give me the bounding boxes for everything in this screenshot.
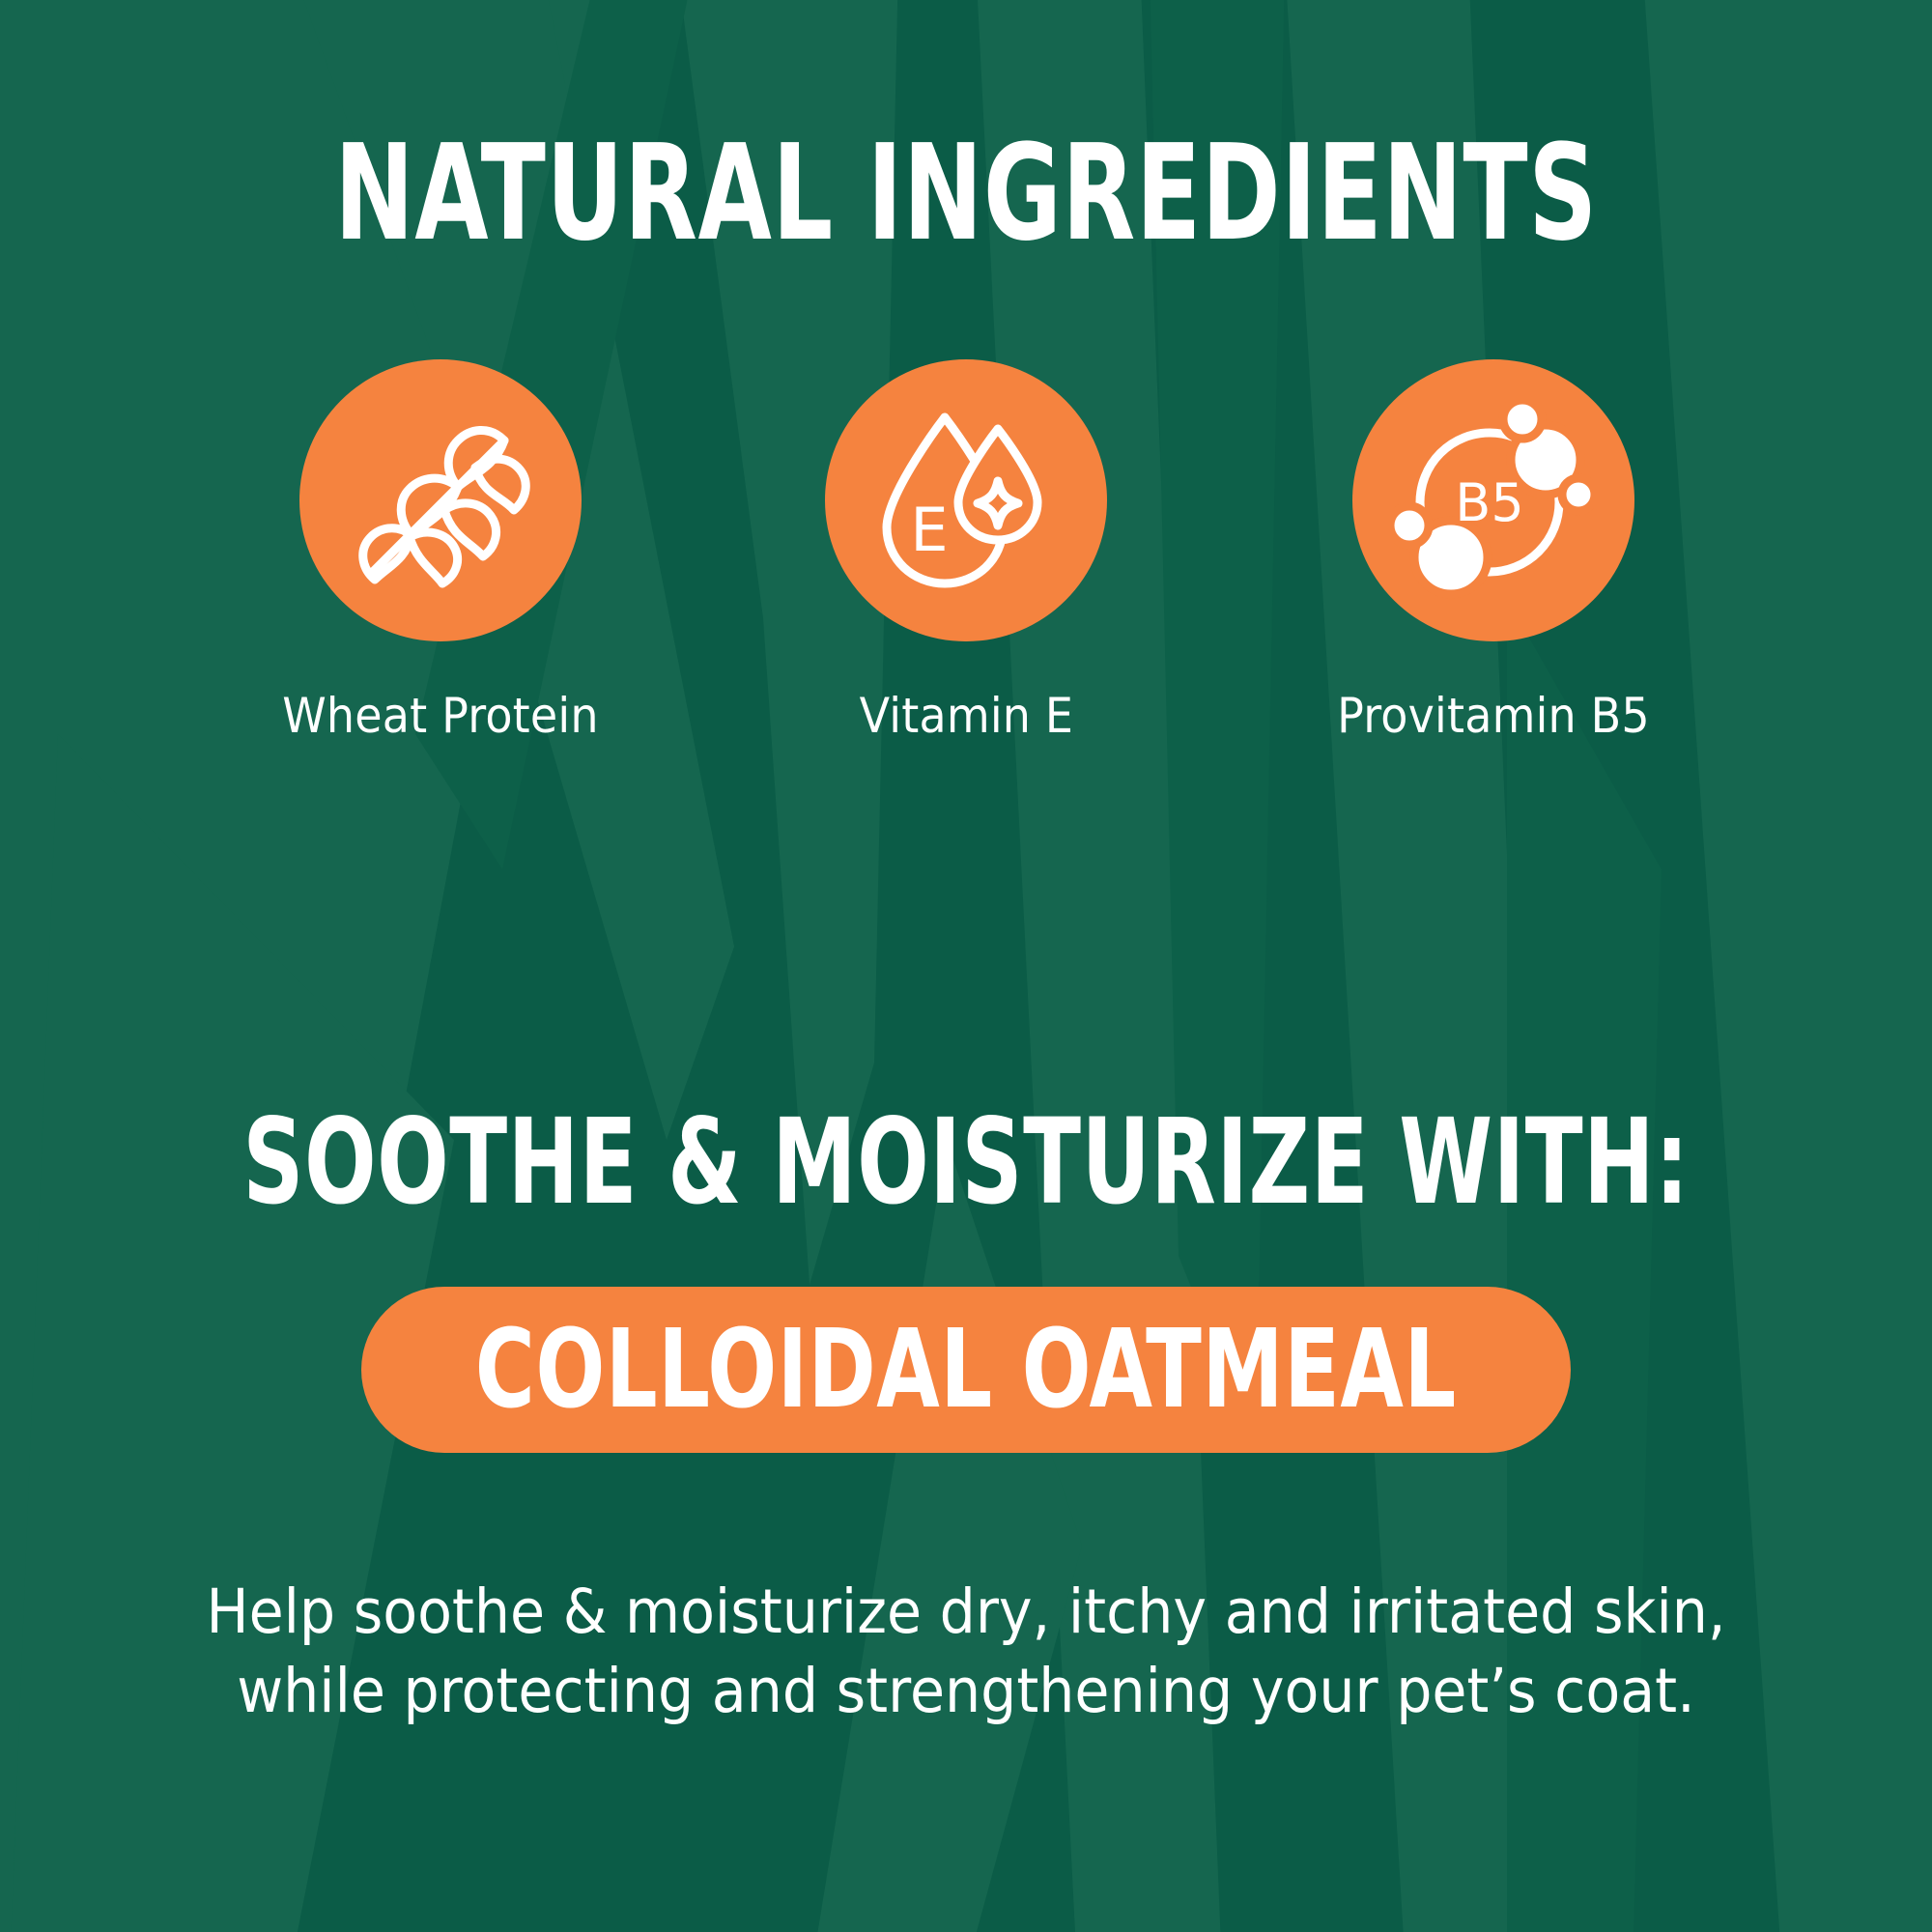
body-copy: Help soothe & moisturize dry, itchy and … [0,1573,1932,1731]
ingredient-icon-badge: E [825,359,1107,641]
body-copy-line-1: Help soothe & moisturize dry, itchy and … [68,1573,1864,1652]
feature-heading: SOOTHE & MOISTURIZE WITH: [193,1103,1739,1221]
vitamin-e-icon-letter: E [910,495,948,565]
provitamin-b5-icon-letters: B5 [1455,472,1523,533]
page-title-band: NATURAL INGREDIENTS [0,128,1932,260]
page-title: NATURAL INGREDIENTS [193,128,1739,260]
vitamin-e-droplet-icon: E [869,404,1063,597]
colloidal-oatmeal-pill[interactable]: COLLOIDAL OATMEAL [361,1287,1571,1453]
natural-ingredients-poster: NATURAL INGREDIENTS [0,0,1932,1932]
body-copy-line-2: while protecting and strengthening your … [68,1652,1864,1731]
ingredient-provitamin-b5[interactable]: B5 Provitamin B5 [1223,359,1764,744]
ingredient-label: Vitamin E [859,688,1073,744]
ingredients-row: Wheat Protein E Vitamin E [155,359,1777,765]
wheat-stalk-icon [344,404,537,597]
colloidal-oatmeal-label: COLLOIDAL OATMEAL [475,1316,1457,1424]
ingredient-icon-badge: B5 [1352,359,1634,641]
provitamin-b5-bubbles-icon: B5 [1393,400,1594,601]
ingredient-icon-badge [299,359,582,641]
ingredient-vitamin-e[interactable]: E Vitamin E [696,359,1236,744]
ingredient-label: Wheat Protein [282,688,598,744]
ingredient-wheat-protein[interactable]: Wheat Protein [170,359,711,744]
ingredient-label: Provitamin B5 [1337,688,1650,744]
feature-heading-band: SOOTHE & MOISTURIZE WITH: [0,1103,1932,1221]
